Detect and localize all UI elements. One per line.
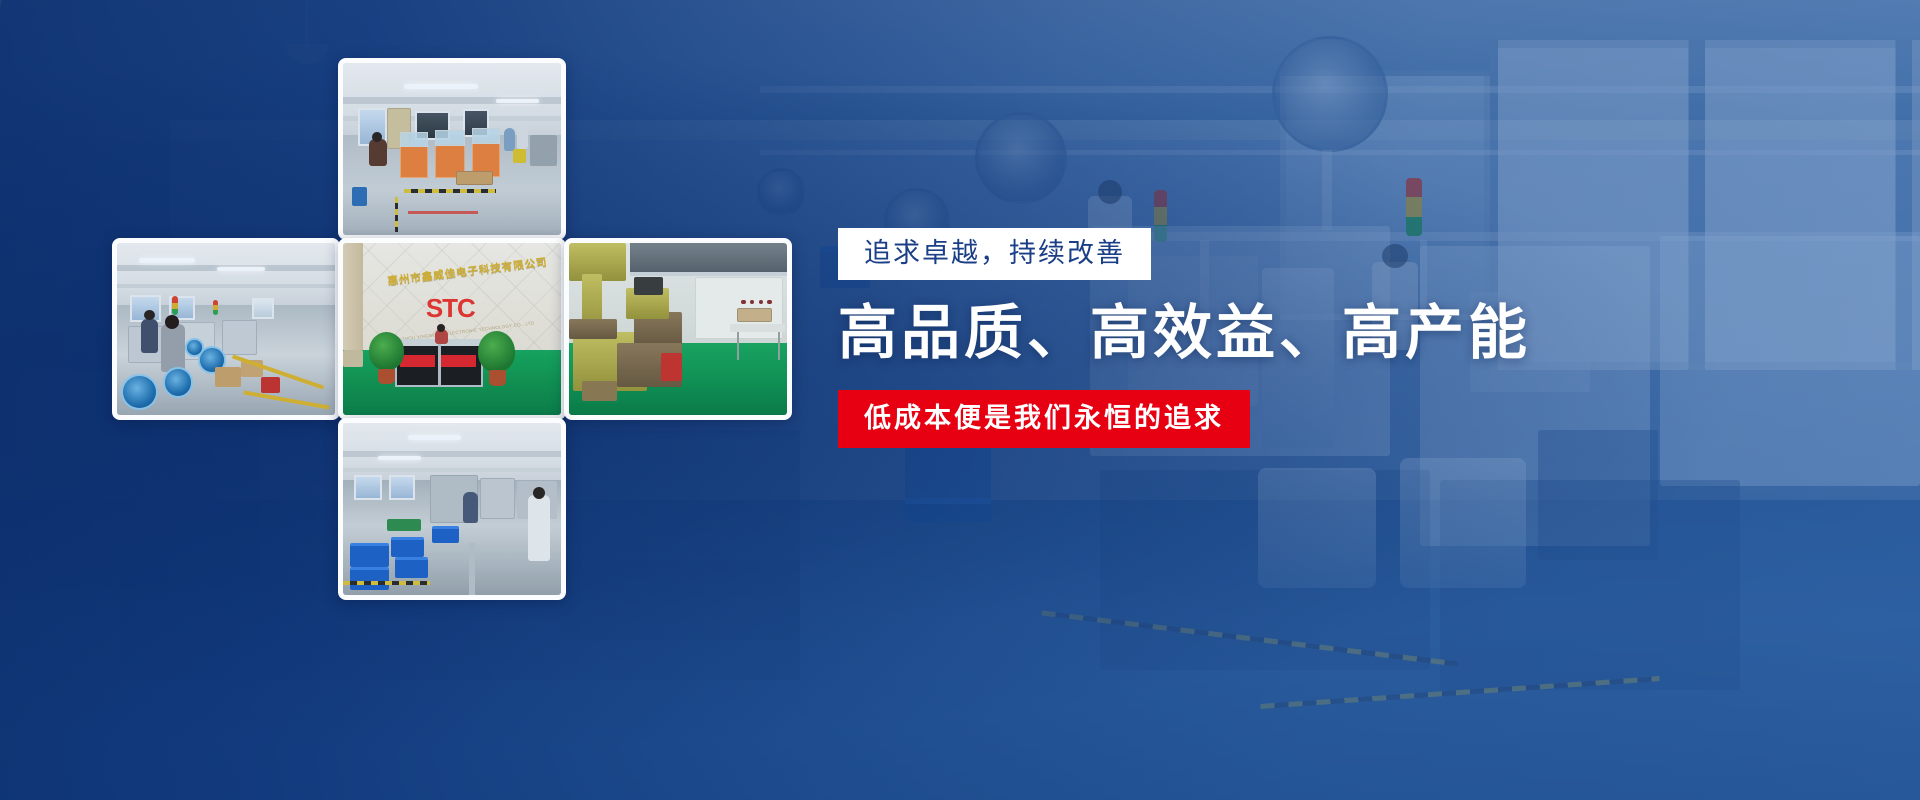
banner-copy: 追求卓越，持续改善 高品质、高效益、高产能 低成本便是我们永恒的追求 xyxy=(838,228,1558,448)
banner-subline: 低成本便是我们永恒的追求 xyxy=(838,390,1250,448)
banner-tagline: 追求卓越，持续改善 xyxy=(838,228,1151,280)
hero-banner: 惠州市鑫威佳电子科技有限公司 STC HUIZHOU YINGWEIJIA EL… xyxy=(0,0,1920,800)
collage-photo-bottom[interactable] xyxy=(338,418,566,600)
banner-headline: 高品质、高效益、高产能 xyxy=(838,302,1558,366)
collage-photo-center[interactable]: 惠州市鑫威佳电子科技有限公司 STC HUIZHOU YINGWEIJIA EL… xyxy=(338,238,566,420)
collage-photo-left[interactable] xyxy=(112,238,340,420)
collage-photo-right[interactable] xyxy=(564,238,792,420)
collage-photo-top[interactable] xyxy=(338,58,566,240)
photo-collage: 惠州市鑫威佳电子科技有限公司 STC HUIZHOU YINGWEIJIA EL… xyxy=(0,0,900,660)
